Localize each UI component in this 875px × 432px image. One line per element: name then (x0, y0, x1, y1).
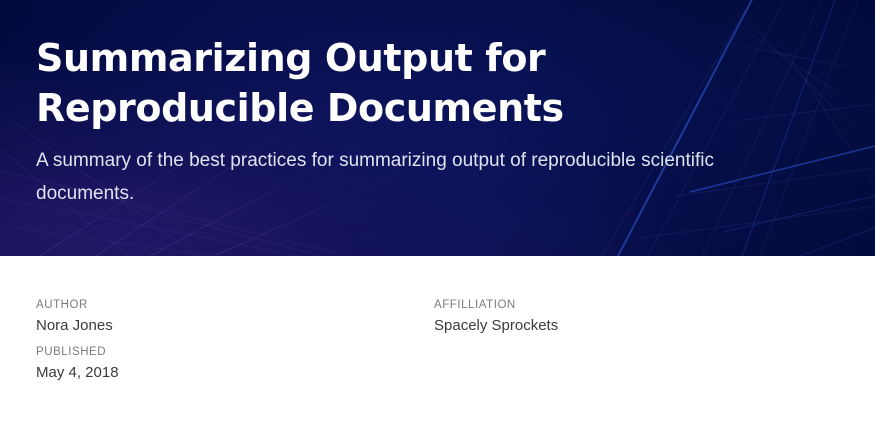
metadata-grid: AUTHOR Nora Jones PUBLISHED May 4, 2018 … (36, 297, 839, 384)
author-value: Nora Jones (36, 314, 434, 337)
document-metadata: AUTHOR Nora Jones PUBLISHED May 4, 2018 … (0, 256, 875, 432)
published-value: May 4, 2018 (36, 361, 434, 384)
published-label: PUBLISHED (36, 344, 434, 360)
affiliation-label: AFFILLIATION (434, 297, 839, 313)
affiliation-value: Spacely Sprockets (434, 314, 839, 337)
author-label: AUTHOR (36, 297, 434, 313)
metadata-column-affiliation: AFFILLIATION Spacely Sprockets (434, 297, 839, 337)
banner-content: Summarizing Output for Reproducible Docu… (36, 33, 826, 210)
page-subtitle: A summary of the best practices for summ… (36, 144, 798, 210)
document-title-banner: Summarizing Output for Reproducible Docu… (0, 0, 875, 256)
page-title: Summarizing Output for Reproducible Docu… (36, 33, 736, 133)
metadata-column-author: AUTHOR Nora Jones PUBLISHED May 4, 2018 (36, 297, 434, 384)
